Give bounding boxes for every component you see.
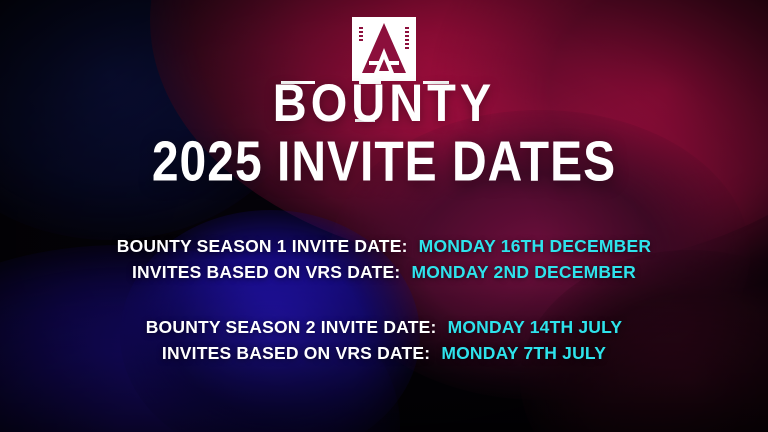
date-row: INVITES BASED ON VRS DATE: MONDAY 7TH JU… — [162, 341, 606, 367]
date-row: BOUNTY SEASON 2 INVITE DATE: MONDAY 14TH… — [146, 315, 623, 341]
promo-graphic: BOUNTY 2025 INVITE DATES BOUNTY SEASON 1… — [0, 0, 768, 432]
wordmark-text: BOUNTY — [273, 76, 495, 129]
content-layer: BOUNTY 2025 INVITE DATES BOUNTY SEASON 1… — [0, 0, 768, 432]
page-title: 2025 INVITE DATES — [152, 135, 616, 192]
bounty-a-monogram-icon — [352, 17, 416, 81]
date-value: MONDAY 7TH JULY — [441, 343, 606, 363]
date-label: BOUNTY SEASON 2 INVITE DATE: — [146, 317, 437, 337]
date-row: INVITES BASED ON VRS DATE: MONDAY 2ND DE… — [132, 260, 636, 286]
date-value: MONDAY 16TH DECEMBER — [419, 236, 652, 256]
date-row: BOUNTY SEASON 1 INVITE DATE: MONDAY 16TH… — [117, 234, 651, 260]
date-value: MONDAY 2ND DECEMBER — [411, 262, 636, 282]
date-label: INVITES BASED ON VRS DATE: — [132, 262, 400, 282]
season-1-block: BOUNTY SEASON 1 INVITE DATE: MONDAY 16TH… — [117, 234, 651, 285]
bounty-wordmark: BOUNTY — [273, 79, 495, 125]
date-label: INVITES BASED ON VRS DATE: — [162, 343, 430, 363]
invite-dates-list: BOUNTY SEASON 1 INVITE DATE: MONDAY 16TH… — [0, 234, 768, 367]
date-label: BOUNTY SEASON 1 INVITE DATE: — [117, 236, 408, 256]
date-value: MONDAY 14TH JULY — [448, 317, 623, 337]
season-2-block: BOUNTY SEASON 2 INVITE DATE: MONDAY 14TH… — [146, 315, 623, 366]
